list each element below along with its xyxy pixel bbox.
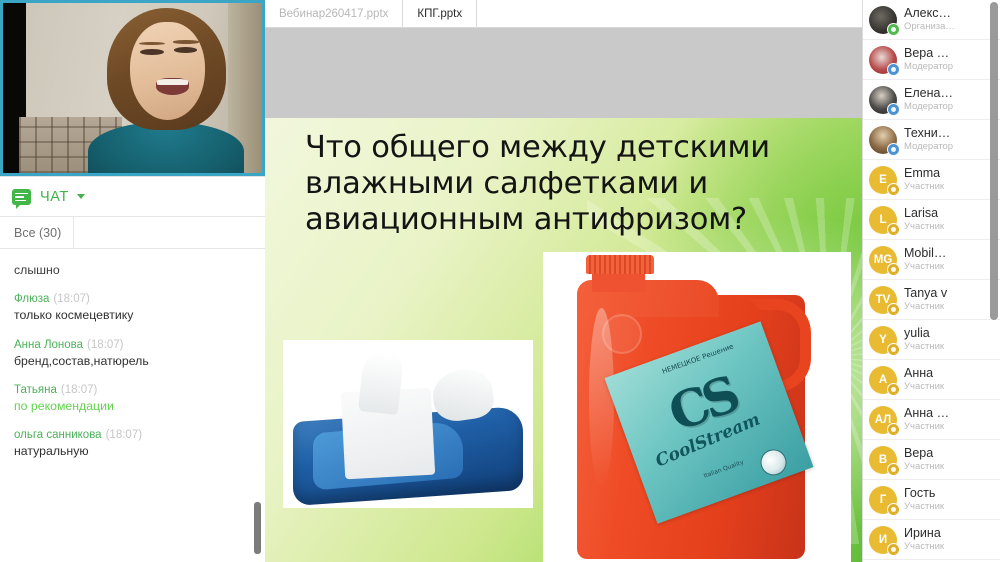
presenter-teeth	[157, 79, 188, 86]
participant-role: Модератор	[904, 141, 953, 153]
participant-row[interactable]: A Анна Участник	[863, 360, 1000, 400]
chat-message: Анна Лонова(18:07) бренд,состав,натюрель	[14, 339, 253, 369]
avatar	[869, 6, 897, 34]
participant-info: Mobil… Участник	[904, 246, 946, 273]
participant-name: Ирина	[904, 526, 944, 540]
participant-row[interactable]: Техни… Модератор	[863, 120, 1000, 160]
chat-header[interactable]: ЧАТ	[0, 177, 265, 217]
chat-title: ЧАТ	[40, 189, 69, 205]
presenter-video[interactable]	[0, 0, 265, 176]
participant-info: Вера Участник	[904, 446, 944, 473]
participant-name: Анна	[904, 366, 944, 380]
slide-letterbox-band	[265, 28, 862, 118]
participant-name: Техни…	[904, 126, 953, 140]
presenter-eye-left	[140, 49, 163, 55]
role-badge-participant-icon	[887, 223, 900, 236]
video-frame	[3, 3, 262, 173]
participant-info: Анна Участник	[904, 366, 944, 393]
slide-title: Что общего между детскими влажными салфе…	[265, 118, 862, 238]
presenter-face	[130, 22, 205, 121]
chat-message: слышно	[14, 263, 253, 278]
participant-info: Emma Участник	[904, 166, 944, 193]
role-badge-organizer-icon	[887, 23, 900, 36]
avatar: Y	[869, 326, 897, 354]
avatar: TV	[869, 286, 897, 314]
avatar-initials: A	[879, 374, 887, 386]
webinar-window: ЧАТ Все (30) слышно Флюза(18:07) только …	[0, 0, 1000, 562]
chat-bubble-icon	[12, 189, 31, 205]
participant-name: Вера …	[904, 46, 953, 60]
avatar-initials: L	[879, 214, 886, 226]
avatar-initials: Y	[879, 334, 887, 346]
participant-info: Tanya v Участник	[904, 286, 947, 313]
chat-tabs-filler	[74, 217, 265, 248]
participant-role: Участник	[904, 181, 944, 193]
avatar: E	[869, 166, 897, 194]
avatar-initials: TV	[876, 294, 891, 306]
avatar-initials: В	[879, 454, 887, 466]
presentation-tab-kpg[interactable]: КПГ.pptx	[403, 0, 477, 27]
avatar-initials: E	[879, 174, 887, 186]
chevron-down-icon[interactable]	[77, 194, 85, 199]
chat-scrollbar[interactable]	[254, 249, 261, 562]
participant-row[interactable]: Алекс… Организа…	[863, 0, 1000, 40]
role-badge-moderator-icon	[887, 143, 900, 156]
participant-role: Участник	[904, 341, 944, 353]
participant-name: Emma	[904, 166, 944, 180]
participant-info: yulia Участник	[904, 326, 944, 353]
participant-info: Larisa Участник	[904, 206, 944, 233]
participant-name: Mobil…	[904, 246, 946, 260]
left-column: ЧАТ Все (30) слышно Флюза(18:07) только …	[0, 0, 265, 562]
participant-name: yulia	[904, 326, 944, 340]
participant-row[interactable]: TV Tanya v Участник	[863, 280, 1000, 320]
avatar: A	[869, 366, 897, 394]
antifreeze-bottle-photo: АНТИФРИЗ НЕМЕЦКОЕ Решение CS CoolStream …	[543, 252, 851, 562]
chat-message-meta: ольга санникова(18:07)	[14, 429, 253, 441]
presentation-tabs: Вебинар260417.pptx КПГ.pptx	[265, 0, 862, 28]
participant-role: Участник	[904, 381, 944, 393]
chat-message-text: по рекомендации	[14, 399, 253, 414]
chat-message-author: Анна Лонова	[14, 339, 83, 351]
avatar: Г	[869, 486, 897, 514]
chat-message-meta: Татьяна(18:07)	[14, 384, 253, 396]
avatar: L	[869, 206, 897, 234]
chat-message-text: только космецевтику	[14, 308, 253, 323]
chat-message-list[interactable]: слышно Флюза(18:07) только космецевтику …	[0, 249, 265, 562]
participant-row[interactable]: Y yulia Участник	[863, 320, 1000, 360]
participant-name: Алекс…	[904, 6, 955, 20]
chat-message-author: Флюза	[14, 293, 49, 305]
participant-role: Участник	[904, 261, 946, 273]
role-badge-participant-icon	[887, 463, 900, 476]
participant-name: Larisa	[904, 206, 944, 220]
chat-message-text: натуральную	[14, 444, 253, 459]
participants-panel[interactable]: Алекс… Организа… Вера … Модератор Елена……	[862, 0, 1000, 562]
avatar: И	[869, 526, 897, 554]
participant-role: Модератор	[904, 61, 953, 73]
avatar	[869, 126, 897, 154]
chat-message-time: (18:07)	[106, 429, 142, 441]
role-badge-moderator-icon	[887, 63, 900, 76]
chat-scrollbar-thumb[interactable]	[254, 502, 261, 554]
avatar: MG	[869, 246, 897, 274]
presentation-stage: Вебинар260417.pptx КПГ.pptx Что общего м…	[265, 0, 862, 562]
participant-role: Участник	[904, 541, 944, 553]
participant-info: Вера … Модератор	[904, 46, 953, 73]
chat-message: ольга санникова(18:07) натуральную	[14, 429, 253, 459]
chat-panel: ЧАТ Все (30) слышно Флюза(18:07) только …	[0, 176, 265, 562]
participant-name: Вера	[904, 446, 944, 460]
participant-row[interactable]: Вера … Модератор	[863, 40, 1000, 80]
role-badge-participant-icon	[887, 423, 900, 436]
participant-info: Техни… Модератор	[904, 126, 953, 153]
participant-role: Участник	[904, 421, 949, 433]
participant-row[interactable]: MG Mobil… Участник	[863, 240, 1000, 280]
chat-message-meta: Флюза(18:07)	[14, 293, 253, 305]
participant-name: Гость	[904, 486, 944, 500]
bottle-label-sub-line: Italian Quality	[703, 459, 745, 480]
role-badge-participant-icon	[887, 343, 900, 356]
wipe-sheet-1	[357, 352, 403, 416]
chat-message-author: ольга санникова	[14, 429, 102, 441]
participant-name: Tanya v	[904, 286, 947, 300]
participant-role: Участник	[904, 501, 944, 513]
participant-name: Анна …	[904, 406, 949, 420]
chat-message: Флюза(18:07) только космецевтику	[14, 293, 253, 323]
avatar: В	[869, 446, 897, 474]
participant-row[interactable]: L Larisa Участник	[863, 200, 1000, 240]
avatar-initials: И	[879, 534, 887, 546]
avatar	[869, 86, 897, 114]
chat-message: Татьяна(18:07) по рекомендации	[14, 384, 253, 414]
chat-message-time: (18:07)	[53, 293, 89, 305]
participant-info: Гость Участник	[904, 486, 944, 513]
role-badge-moderator-icon	[887, 103, 900, 116]
participant-row[interactable]: E Emma Участник	[863, 160, 1000, 200]
participant-info: Ирина Участник	[904, 526, 944, 553]
participant-info: Алекс… Организа…	[904, 6, 955, 33]
chat-message-time: (18:07)	[61, 384, 97, 396]
role-badge-participant-icon	[887, 543, 900, 556]
participants-scrollbar-thumb[interactable]	[990, 2, 998, 320]
quality-seal-icon	[757, 446, 790, 479]
participant-row[interactable]: И Ирина Участник	[863, 520, 1000, 560]
chat-message-time: (18:07)	[87, 339, 123, 351]
avatar: АЛ	[869, 406, 897, 434]
chat-message-text: слышно	[14, 263, 253, 278]
chat-message-meta: Анна Лонова(18:07)	[14, 339, 253, 351]
bottle-cap	[586, 255, 654, 274]
chat-tab-all[interactable]: Все (30)	[0, 217, 74, 248]
role-badge-participant-icon	[887, 503, 900, 516]
presenter-brow-right	[173, 40, 199, 43]
participants-scrollbar[interactable]	[990, 0, 998, 562]
chat-message-text: бренд,состав,натюрель	[14, 354, 253, 369]
avatar-initials: Г	[880, 494, 887, 506]
role-badge-participant-icon	[887, 263, 900, 276]
participant-role: Участник	[904, 461, 944, 473]
role-badge-participant-icon	[887, 303, 900, 316]
chat-tabs: Все (30)	[0, 217, 265, 249]
participant-info: Анна … Участник	[904, 406, 949, 433]
participant-role: Модератор	[904, 101, 953, 113]
slide-canvas[interactable]: Что общего между детскими влажными салфе…	[265, 118, 862, 562]
participant-name: Елена…	[904, 86, 953, 100]
participant-role: Участник	[904, 301, 947, 313]
participant-info: Елена… Модератор	[904, 86, 953, 113]
role-badge-participant-icon	[887, 183, 900, 196]
bottle-embossed-logo	[602, 314, 642, 354]
participant-row[interactable]: АЛ Анна … Участник	[863, 400, 1000, 440]
participant-row[interactable]: Г Гость Участник	[863, 480, 1000, 520]
presentation-tab-webinar[interactable]: Вебинар260417.pptx	[265, 0, 403, 27]
wet-wipes-photo	[283, 340, 533, 508]
role-badge-participant-icon	[887, 383, 900, 396]
participant-role: Организа…	[904, 21, 955, 33]
chat-message-author: Татьяна	[14, 384, 57, 396]
presentation-tabs-filler	[477, 0, 862, 27]
participant-role: Участник	[904, 221, 944, 233]
participant-row[interactable]: Елена… Модератор	[863, 80, 1000, 120]
participant-row[interactable]: В Вера Участник	[863, 440, 1000, 480]
avatar	[869, 46, 897, 74]
